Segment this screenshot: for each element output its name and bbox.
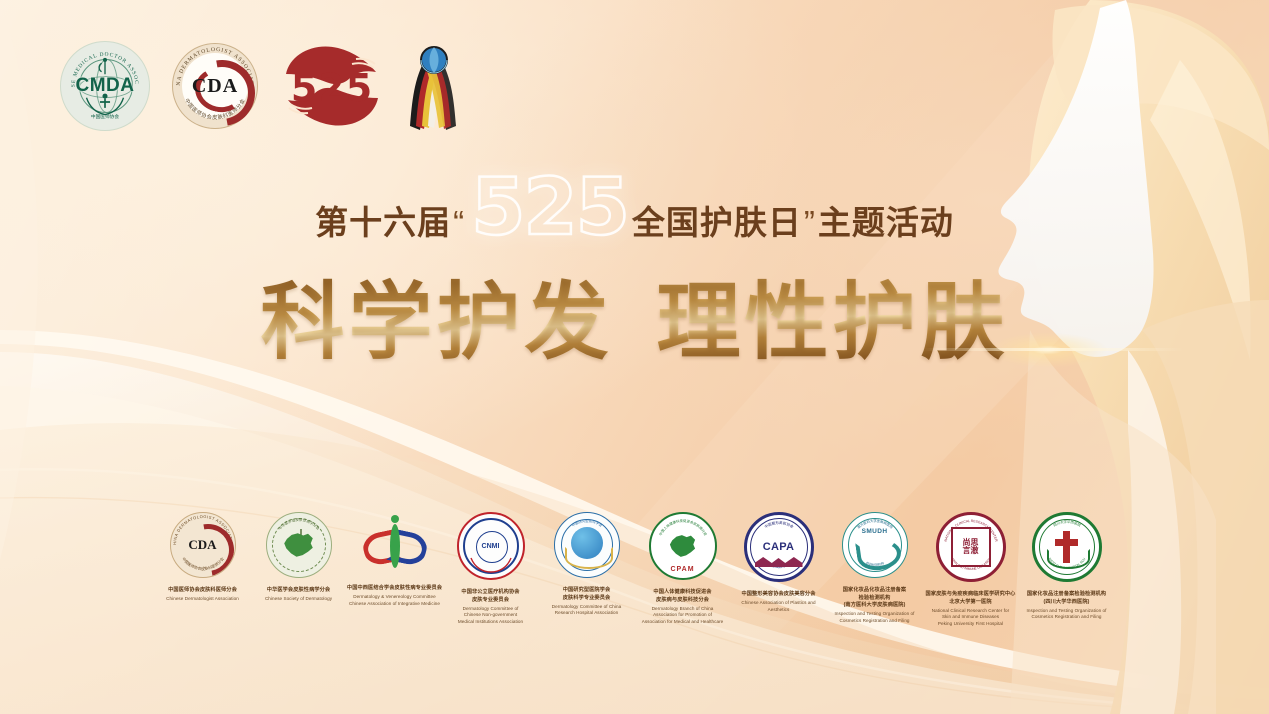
partner-name-cn: 中国人体健康科技促进会 皮肤病与皮肤科技分会 — [653, 589, 711, 604]
cda-logo: CHINA DERMATOLOGIST ASSOCIATION 中国医师协会皮肤… — [172, 43, 258, 129]
partner-name-cn: 中国非公立医疗机构协会 皮肤专业委员会 — [461, 589, 519, 604]
quote-open: “ — [451, 204, 467, 241]
svg-text:中国人体健康科技促进会皮肤病分会: 中国人体健康科技促进会皮肤病分会 — [657, 518, 708, 537]
capa-seal-icon: 中国整形美容协会 皮肤美容分会 CAPA — [744, 512, 814, 582]
cross-icon-bar — [1055, 539, 1078, 546]
poster-canvas: CHINESE MEDICAL DOCTOR ASSOCIATION 中国医师协… — [0, 0, 1269, 714]
partner-item: 中国整形美容协会 皮肤美容分会 CAPA 中国整形美容协会皮肤美容分会 Chin… — [731, 512, 827, 613]
partner-item: 南方医科大学皮肤病医院 检验检测机构 SMUDH 国家化妆品化妆品注册备案 检验… — [827, 512, 923, 624]
scu-seal-icon: 四川大学华西医院 WEST CHINA HOSPITAL SCU — [1032, 512, 1102, 582]
partner-name-cn: 中国医师协会皮肤科医师分会 — [168, 587, 237, 595]
smudh-seal-icon: 南方医科大学皮肤病医院 检验检测机构 SMUDH — [842, 512, 908, 578]
cda-wordmark: CDA — [192, 75, 238, 98]
headline-right: 理性护肤 — [657, 273, 1009, 371]
partner-name-cn: 中国研究型医院学会 皮肤科学专业委员会 — [563, 587, 611, 602]
svg-text:中国研究型医院学会: 中国研究型医院学会 — [570, 518, 603, 528]
svg-text:中国整形美容协会: 中国整形美容协会 — [763, 520, 795, 529]
headline-left: 科学护发 — [260, 273, 612, 371]
partner-item: 中国中西医结合学会皮肤性病专业委员会 Dermatology & Venereo… — [347, 512, 443, 607]
cpam-badge: CPAM — [651, 566, 715, 573]
partner-name-cn: 国家化妆品化妆品注册备案 检验检测机构 (南方医科大学皮肤病医院) — [843, 587, 906, 610]
partner-name-cn: 国家化妆品注册备案检验检测机构 (四川大学华西医院) — [1027, 591, 1106, 606]
partner-name-cn: 中华医学会皮肤性病学分会 — [267, 587, 330, 595]
cross-icon — [1063, 531, 1070, 563]
partner-name-cn: 国家皮肤与免疫疾病临床医学研究中心 北京大学第一医院 — [926, 591, 1016, 606]
partner-name-en: National Clinical Research Center for Sk… — [932, 608, 1009, 628]
525-wordmark: 525 — [280, 66, 384, 110]
partner-item: CNMI 中国非公立医疗机构协会 皮肤专业委员会 Dermatology Com… — [443, 512, 539, 626]
awareness-ribbon-logo — [406, 40, 460, 132]
subtitle-mid: 全国护肤日 — [632, 204, 802, 241]
cda-badge: CDA — [188, 537, 216, 553]
dcc-seal-icon: 中国研究型医院学会 — [554, 512, 620, 578]
cmda-logo: CHINESE MEDICAL DOCTOR ASSOCIATION 中国医师协… — [60, 41, 150, 131]
main-headline: 科学护发理性护肤 — [0, 255, 1269, 376]
partner-name-en: Dermatology & Venereology Committee Chin… — [349, 594, 440, 607]
partner-logo-row: CHINA DERMATOLOGIST ASSOCIATION 中国医师协会皮肤… — [0, 512, 1269, 628]
partner-name-cn: 中国整形美容协会皮肤美容分会 — [741, 591, 815, 599]
quote-close: ” — [802, 204, 818, 241]
subtitle-suffix: 主题活动 — [818, 204, 954, 241]
partner-name-en: Dermatology Committee of Chinese Non-gov… — [458, 606, 523, 626]
partner-name-en: Inspection and Testing Organization of C… — [835, 611, 915, 624]
partner-item: 中国人体健康科技促进会皮肤病分会 CPAM 中国人体健康科技促进会 皮肤病与皮肤… — [635, 512, 731, 626]
cmda-wordmark: CMDA — [76, 75, 135, 97]
svg-text:中国医师协会: 中国医师协会 — [91, 113, 119, 120]
pku-first-hospital-seal-icon: NATIONAL CLINICAL RESEARCH CENTER SKIN A… — [936, 512, 1006, 582]
cnmi-badge: CNMI — [482, 543, 500, 550]
partner-item: CHINA DERMATOLOGIST ASSOCIATION 中国医师协会皮肤… — [155, 512, 251, 603]
cpam-seal-icon: 中国人体健康科技促进会皮肤病分会 CPAM — [649, 512, 717, 580]
cnmia-seal-icon: CNMI — [457, 512, 525, 580]
top-logo-strip: CHINESE MEDICAL DOCTOR ASSOCIATION 中国医师协… — [60, 40, 460, 132]
partner-item: 四川大学华西医院 WEST CHINA HOSPITAL SCU 国家化妆品注册… — [1019, 512, 1115, 621]
partner-name-en: Chinese Society of Dermatology — [265, 596, 332, 603]
svg-text:中华医学会皮肤性病学分会: 中华医学会皮肤性病学分会 — [277, 517, 321, 531]
partner-item: 中国研究型医院学会 中国研究型医院学会 皮肤科学专业委员会 Dermatolog… — [539, 512, 635, 617]
subtitle-prefix: 第十六届 — [315, 204, 451, 241]
partner-name-en: Dermatology Committee of China Research … — [552, 604, 621, 617]
csd-seal-icon: 中华医学会皮肤性病学分会 — [266, 512, 332, 578]
ribbon-icon — [406, 40, 460, 132]
partner-item: 中华医学会皮肤性病学分会 中华医学会皮肤性病学分会 Chinese Societ… — [251, 512, 347, 603]
svg-text:四川大学华西医院: 四川大学华西医院 — [1052, 519, 1082, 528]
partner-item: NATIONAL CLINICAL RESEARCH CENTER SKIN A… — [923, 512, 1019, 628]
event-subtitle: 第十六届“525全国护肤日”主题活动 — [0, 196, 1269, 244]
cda-seal-icon: CHINA DERMATOLOGIST ASSOCIATION 中国医师协会皮肤… — [170, 512, 236, 578]
525-hands-logo: 525 — [280, 40, 384, 132]
capa-badge: CAPA — [763, 541, 795, 553]
partner-name-en: Dermatology Branch of China Association … — [642, 606, 724, 626]
partner-name-cn: 中国中西医结合学会皮肤性病专业委员会 — [347, 585, 442, 593]
dermatology-venereology-committee-icon — [363, 512, 427, 576]
pkuf-badge: 尚思 言澈 — [963, 539, 979, 555]
partner-name-en: Chinese Association of Plastics and Aest… — [731, 600, 827, 613]
svg-text:SKIN AND IMMUNE DISEASES: SKIN AND IMMUNE DISEASES — [950, 558, 990, 571]
smudh-badge: SMUDH — [843, 528, 907, 535]
capa-band — [755, 557, 803, 567]
partner-name-en: Inspection and Testing Organization of C… — [1027, 608, 1107, 621]
partner-name-en: Chinese Dermatologist Association — [166, 596, 239, 603]
